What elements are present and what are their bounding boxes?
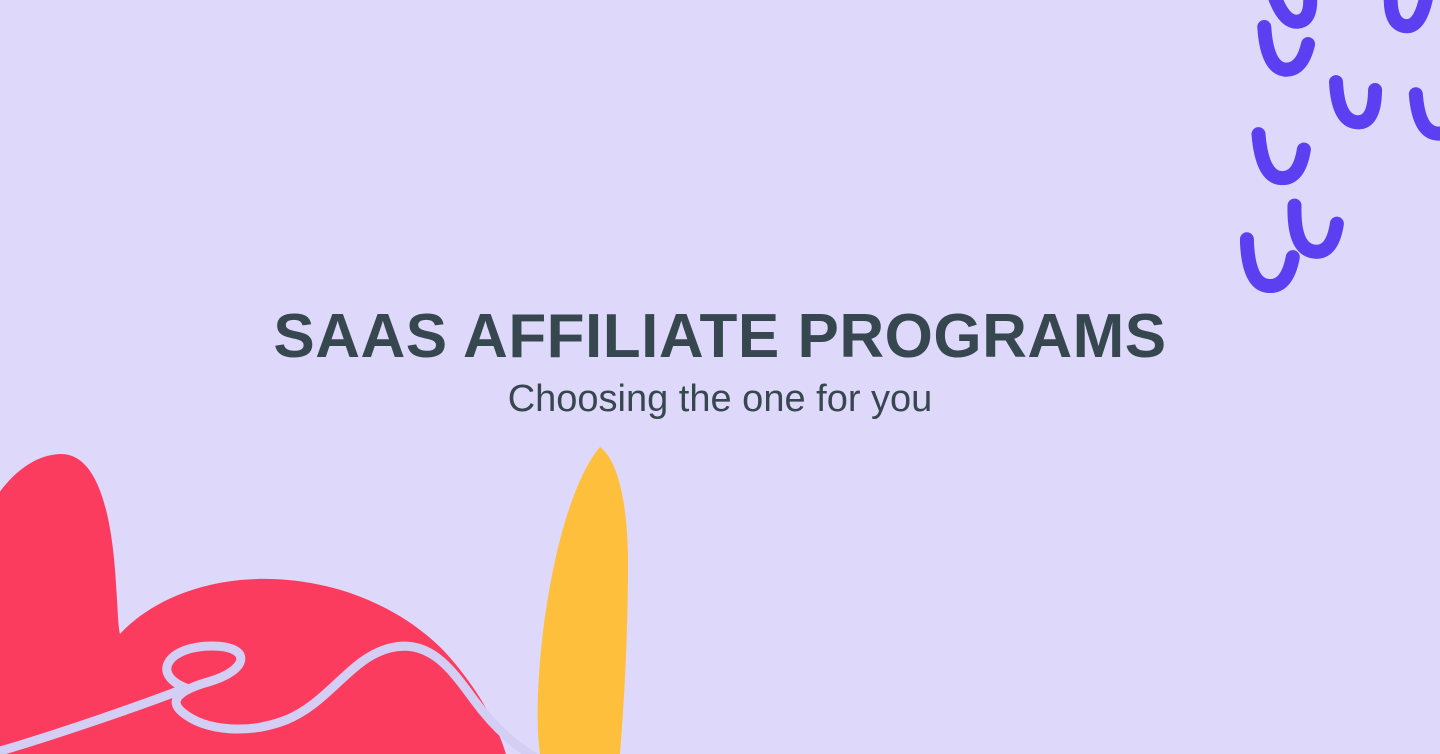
bottom-left-decor-group [0, 434, 700, 754]
hook-icon [1386, 0, 1427, 28]
page-subtitle: Choosing the one for you [0, 380, 1440, 418]
hook-icon [1294, 203, 1339, 253]
hook-icon [1415, 86, 1440, 137]
hook-icon [1336, 78, 1378, 124]
hook-icon [1273, 0, 1317, 26]
red-organic-blob [0, 454, 506, 754]
hook-icon [1258, 127, 1308, 181]
yellow-leaf-shape [538, 447, 628, 754]
hook-icon [1264, 21, 1311, 72]
hook-icon [1246, 233, 1297, 288]
title-block: SAAS AFFILIATE PROGRAMS Choosing the one… [0, 306, 1440, 418]
page-title: SAAS AFFILIATE PROGRAMS [0, 306, 1440, 368]
lavender-squiggle-line [0, 646, 540, 754]
purple-hook-marks-group [1240, 0, 1440, 300]
slide-canvas: SAAS AFFILIATE PROGRAMS Choosing the one… [0, 0, 1440, 754]
